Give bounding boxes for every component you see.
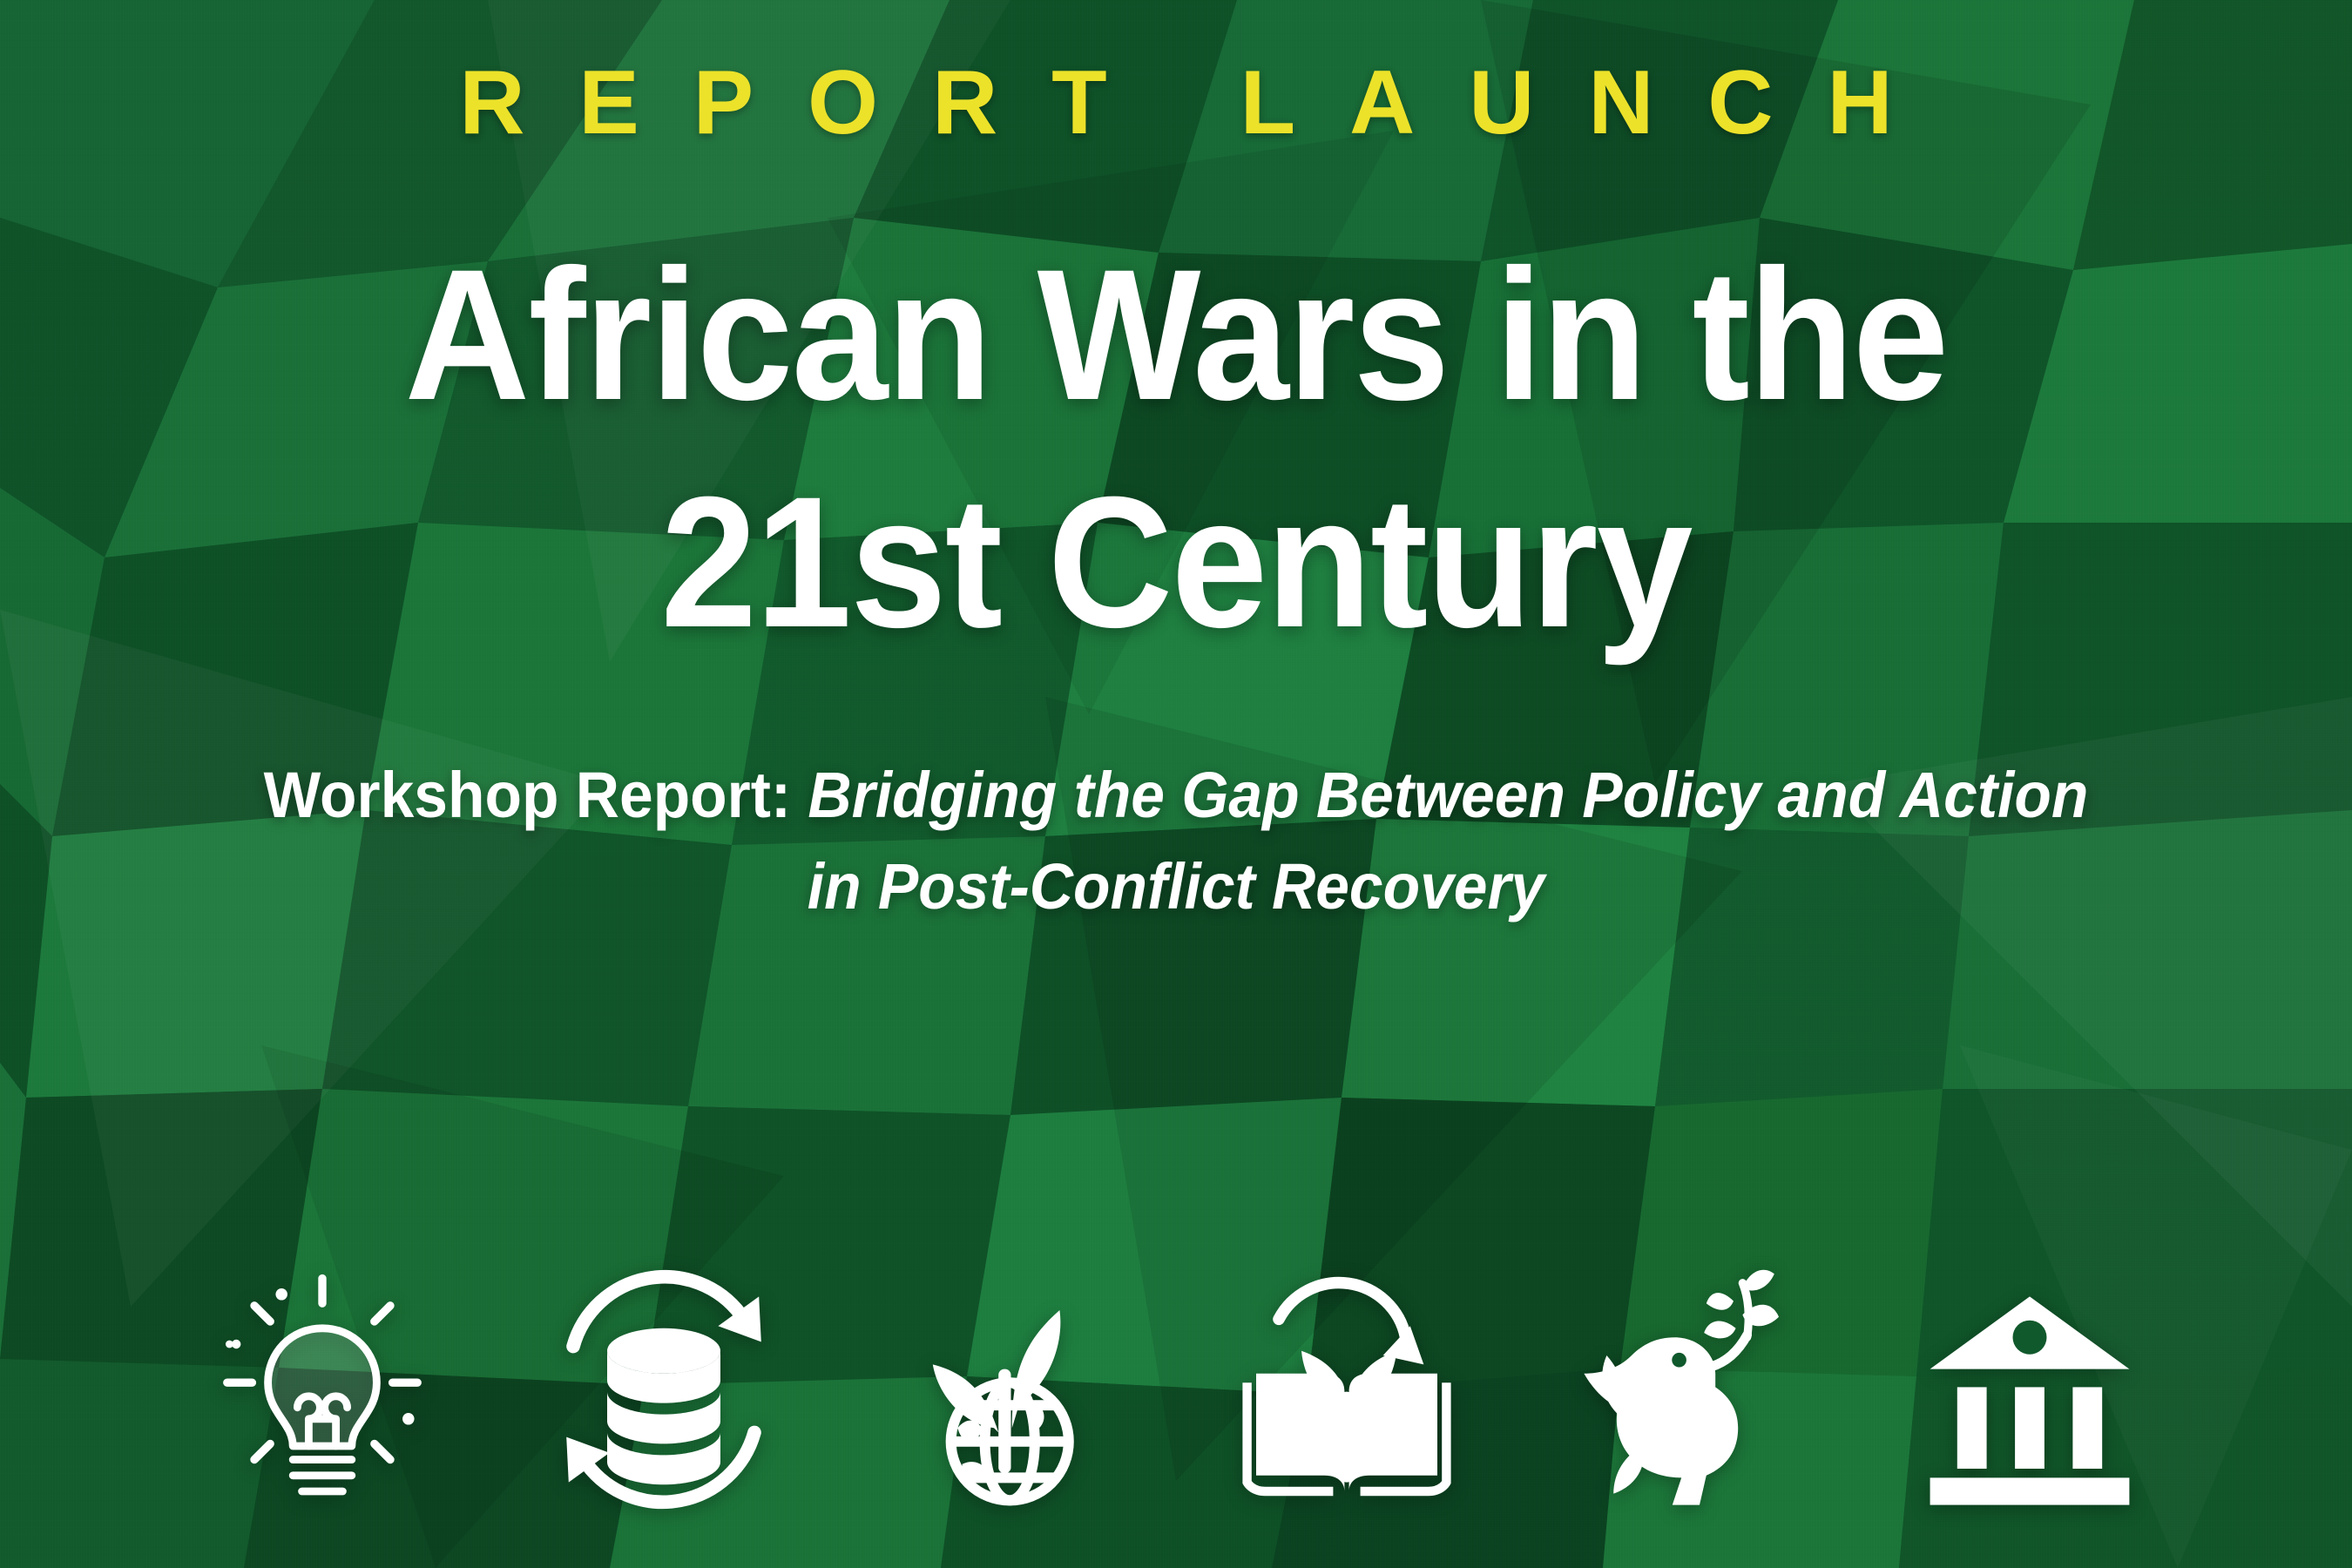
database-sync-icon	[551, 1259, 777, 1520]
subtitle-lead: Workshop Report:	[264, 759, 791, 831]
subtitle-body: Bridging the Gap Between Policy and Acti…	[791, 759, 2088, 923]
subtitle: Workshop Report: Bridging the Gap Betwee…	[242, 749, 2109, 932]
open-book-sprout-icon	[1233, 1259, 1460, 1520]
institution-building-icon	[1916, 1259, 2143, 1520]
kicker-report-launch: REPORT LAUNCH	[0, 57, 2352, 148]
icon-strip	[0, 1246, 2352, 1533]
icon-cell-2	[551, 1259, 777, 1520]
icon-cell-6	[1916, 1259, 2143, 1520]
icon-cell-5	[1575, 1259, 1801, 1520]
lightbulb-idea-icon	[209, 1259, 436, 1520]
title-line-1: African Wars in the	[83, 221, 2270, 449]
icon-cell-3	[892, 1259, 1119, 1520]
title-line-2: 21st Century	[83, 449, 2270, 676]
icon-cell-1	[209, 1259, 436, 1520]
peace-dove-olive-branch-icon	[1575, 1259, 1801, 1520]
icon-cell-4	[1233, 1259, 1460, 1520]
globe-sprout-icon	[892, 1259, 1119, 1520]
page-title: African Wars in the 21st Century	[83, 221, 2270, 676]
